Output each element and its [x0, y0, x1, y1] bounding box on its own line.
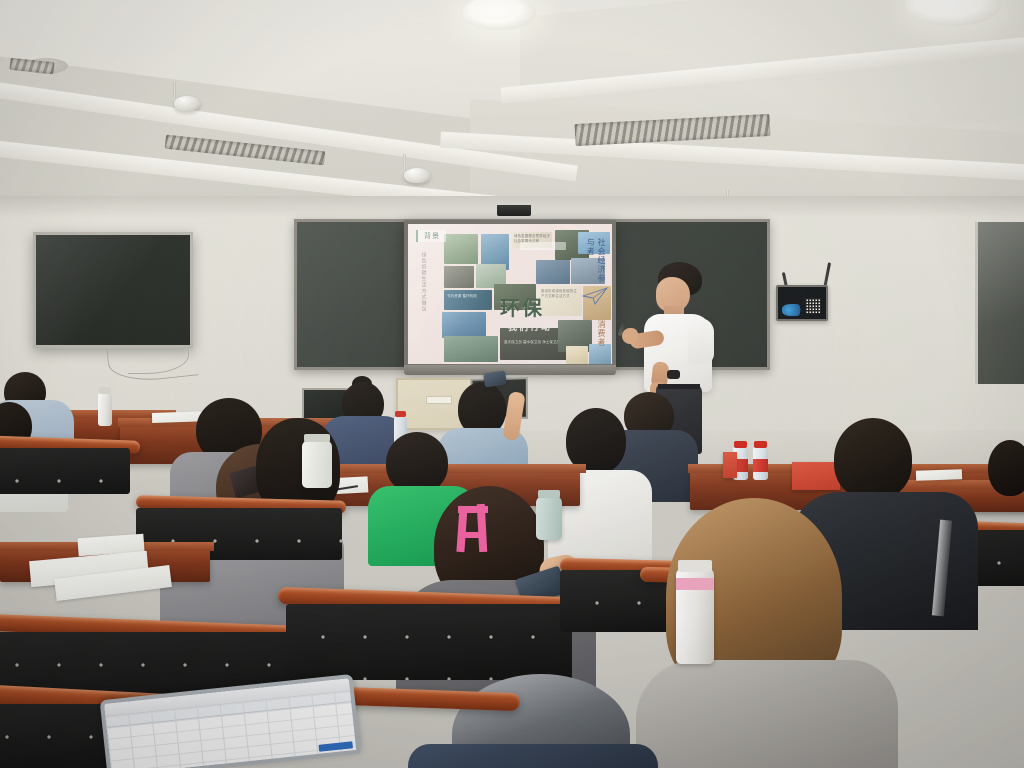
slide-micro-text: 推动形成绿色低碳的生产方式和生活方式: [541, 289, 579, 313]
thermos-band: [676, 578, 714, 590]
qr-code-icon: [805, 298, 821, 314]
slide-micro-text: 节约资源 循环利用: [447, 294, 489, 306]
thermos-cap: [304, 434, 330, 442]
slide-headline: 环保: [500, 292, 544, 321]
screen-glare: [36, 235, 190, 345]
thermos-flask: [98, 392, 112, 426]
red-folder: [792, 462, 840, 490]
bench-studs: [0, 448, 130, 494]
presenter-sleeve: [688, 318, 714, 364]
slide-photo-tile: 节约资源 循环利用: [444, 290, 492, 310]
screen-glare: [978, 222, 1024, 384]
paper-plane-icon: [582, 286, 608, 306]
slide-text-tile: 推动形成绿色低碳的生产方式和生活方式: [538, 286, 582, 316]
presenter-belt: [658, 384, 700, 389]
slide-photo-tile: [536, 260, 570, 284]
slide-photo-tile: [566, 346, 588, 366]
thermos-flask: [302, 440, 332, 488]
slide-subhead: 我们行动: [508, 320, 552, 333]
slide-vertical-caption: 绿色低碳生活方式倡议: [419, 252, 427, 322]
thermos-cap: [678, 560, 712, 572]
presenter-ear: [680, 290, 688, 300]
student-white-right-edge-head: [988, 440, 1024, 496]
flask-cap: [99, 387, 111, 394]
presenter-left-hand: [622, 328, 638, 344]
bench-backrest: [286, 604, 572, 680]
slide-photo-tile: [442, 312, 486, 338]
ceiling: [0, 0, 1024, 215]
slide-canvas: 绿色发展理念贯穿经济社会发展全过程 节约资源 循环利用 推动形成绿色低碳的生产方…: [408, 224, 612, 364]
bottle-cap: [754, 441, 767, 448]
bench-studs: [286, 604, 572, 680]
smart-display[interactable]: 绿色发展理念贯穿经济社会发展全过程 节约资源 循环利用 推动形成绿色低碳的生产方…: [404, 220, 616, 368]
bench-backrest: [0, 448, 130, 494]
slide-divider: [520, 242, 566, 250]
student-black-sport-tee-head: [834, 418, 912, 500]
thermos-cap: [538, 490, 560, 498]
wristwatch: [667, 370, 680, 379]
student-grey-hair-foreground-torso: [408, 744, 658, 768]
smart-display-bezel: [404, 365, 616, 375]
slide-photo-tile: [444, 336, 498, 362]
classroom-photo: 绿色发展理念贯穿经济社会发展全过程 节约资源 循环利用 推动形成绿色低碳的生产方…: [0, 0, 1024, 768]
red-folder: [723, 452, 737, 478]
hair-clip: [464, 532, 486, 538]
wall-control-tablet[interactable]: [776, 285, 828, 321]
wall-tv-left[interactable]: [33, 232, 193, 348]
bottle-cap: [395, 411, 406, 417]
paper-stack: [916, 469, 962, 481]
slide-micro-text: 蓝天保卫战 碧水保卫战 净土保卫战: [504, 340, 562, 356]
hair-clip: [458, 506, 488, 513]
wall-tv-right[interactable]: [975, 222, 1024, 384]
bottle-cap: [734, 441, 747, 448]
student-blonde-foreground-torso: [636, 660, 898, 768]
student-green-tee-head: [386, 432, 448, 494]
slide-section-tag: 背景: [416, 230, 446, 242]
slide-handwritten-note-1: 社会经济参与者: [584, 238, 606, 286]
camera-bar-icon: [497, 203, 531, 216]
bottle-label: [753, 459, 768, 472]
notice-label: [426, 396, 452, 404]
tablet-graphic: [782, 304, 804, 316]
slide-photo-tile: [444, 266, 474, 288]
slide-handwritten-note-2: 消费者: [596, 320, 606, 354]
slide-photo-tile: [444, 234, 478, 264]
thermos-flask: [536, 496, 562, 540]
